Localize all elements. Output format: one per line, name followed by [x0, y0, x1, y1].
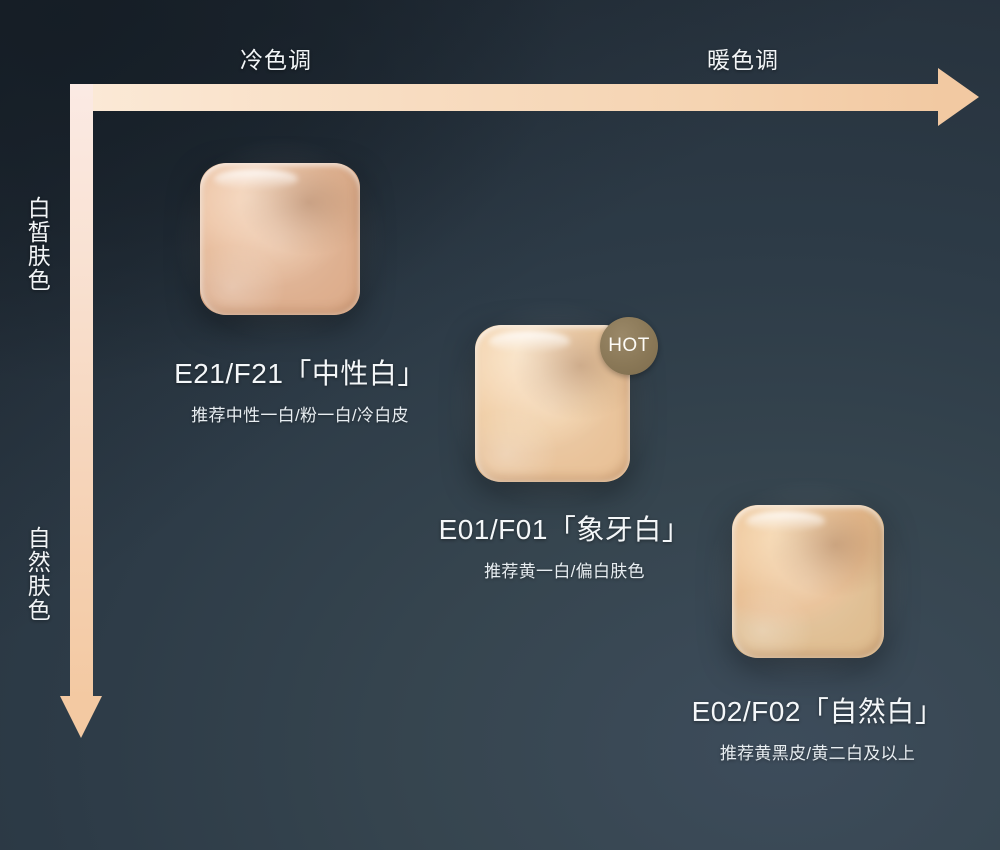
shade-description-e21: 推荐中性一白/粉一白/冷白皮 [170, 401, 430, 426]
shade-name-e21: E21/F21「中性白」 [170, 352, 430, 392]
shade-description-e02: 推荐黄黑皮/黄二白及以上 [685, 739, 950, 764]
shade-name-e01: E01/F01「象牙白」 [432, 508, 697, 548]
swatch-edge-e02 [732, 505, 884, 658]
shade-caption-e01: E01/F01「象牙白」 推荐黄一白/偏白肤色 [432, 508, 697, 582]
shade-caption-e21: E21/F21「中性白」 推荐中性一白/粉一白/冷白皮 [170, 352, 430, 426]
axis-label-cool-tone: 冷色调 [240, 41, 312, 75]
axis-label-warm-tone: 暖色调 [707, 41, 779, 75]
swatch-square-e21 [200, 163, 360, 315]
shade-swatch-e02[interactable] [732, 505, 884, 658]
shade-name-e02: E02/F02「自然白」 [685, 690, 950, 730]
axis-label-fair-skin: 白皙肤色 [24, 196, 50, 292]
horizontal-axis-arrow-head-icon [938, 68, 979, 126]
swatch-edge-e21 [200, 163, 360, 315]
shade-swatch-e21[interactable] [200, 163, 360, 315]
vertical-axis-arrow-head-icon [60, 696, 102, 738]
axis-label-natural-skin: 自然肤色 [24, 526, 50, 622]
shade-matching-chart: 冷色调 暖色调 白皙肤色 自然肤色 E21/F21「中性白」 推荐中性一白/粉一… [0, 0, 1000, 850]
swatch-square-e02 [732, 505, 884, 658]
shade-description-e01: 推荐黄一白/偏白肤色 [432, 557, 697, 582]
hot-badge-e01[interactable]: HOT [600, 317, 658, 375]
vertical-axis-arrow-shaft [70, 84, 93, 698]
horizontal-axis-arrow-shaft [92, 84, 941, 111]
shade-caption-e02: E02/F02「自然白」 推荐黄黑皮/黄二白及以上 [685, 690, 950, 764]
